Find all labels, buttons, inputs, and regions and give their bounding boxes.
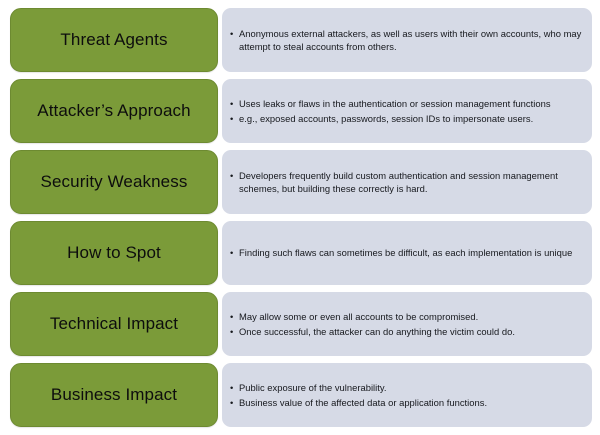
bullet-dot-icon: • — [230, 112, 233, 125]
row-label-box: Security Weakness — [10, 150, 218, 214]
bullet-dot-icon: • — [230, 325, 233, 338]
row-label-box: Business Impact — [10, 363, 218, 427]
row-label-text: Security Weakness — [35, 172, 194, 192]
bullet-dot-icon: • — [230, 310, 233, 323]
bullet-list: •Finding such flaws can sometimes be dif… — [230, 246, 582, 259]
diagram-row: Threat Agents•Anonymous external attacke… — [10, 8, 592, 72]
row-detail-panel: •Public exposure of the vulnerability.•B… — [222, 363, 592, 427]
row-detail-panel: •May allow some or even all accounts to … — [222, 292, 592, 356]
row-label-text: Business Impact — [45, 385, 183, 405]
bullet-dot-icon: • — [230, 27, 233, 40]
bullet-list: •Uses leaks or flaws in the authenticati… — [230, 97, 582, 125]
bullet-item: •Public exposure of the vulnerability. — [230, 381, 582, 394]
row-label-text: Attacker’s Approach — [31, 101, 196, 121]
bullet-item: •Uses leaks or flaws in the authenticati… — [230, 97, 582, 110]
bullet-text: May allow some or even all accounts to b… — [239, 311, 478, 322]
bullet-text: e.g., exposed accounts, passwords, sessi… — [239, 113, 533, 124]
bullet-dot-icon: • — [230, 97, 233, 110]
row-label-box: Attacker’s Approach — [10, 79, 218, 143]
bullet-list: •Anonymous external attackers, as well a… — [230, 27, 582, 54]
bullet-dot-icon: • — [230, 396, 233, 409]
bullet-item: •Once successful, the attacker can do an… — [230, 325, 582, 338]
bullet-item: •Anonymous external attackers, as well a… — [230, 27, 582, 54]
row-label-box: Threat Agents — [10, 8, 218, 72]
diagram-row: Attacker’s Approach•Uses leaks or flaws … — [10, 79, 592, 143]
row-detail-panel: •Uses leaks or flaws in the authenticati… — [222, 79, 592, 143]
bullet-list: •May allow some or even all accounts to … — [230, 310, 582, 338]
row-detail-panel: •Anonymous external attackers, as well a… — [222, 8, 592, 72]
bullet-list: •Developers frequently build custom auth… — [230, 169, 582, 196]
bullet-dot-icon: • — [230, 169, 233, 182]
bullet-text: Uses leaks or flaws in the authenticatio… — [239, 98, 551, 109]
bullet-item: •May allow some or even all accounts to … — [230, 310, 582, 323]
risk-profile-diagram: Threat Agents•Anonymous external attacke… — [0, 0, 600, 435]
bullet-text: Finding such flaws can sometimes be diff… — [239, 247, 572, 258]
bullet-text: Anonymous external attackers, as well as… — [239, 28, 581, 52]
bullet-text: Developers frequently build custom authe… — [239, 170, 558, 194]
row-label-text: How to Spot — [61, 243, 167, 263]
bullet-dot-icon: • — [230, 381, 233, 394]
diagram-row: Security Weakness•Developers frequently … — [10, 150, 592, 214]
row-detail-panel: •Developers frequently build custom auth… — [222, 150, 592, 214]
bullet-text: Public exposure of the vulnerability. — [239, 382, 387, 393]
bullet-text: Once successful, the attacker can do any… — [239, 326, 515, 337]
row-label-box: How to Spot — [10, 221, 218, 285]
row-label-box: Technical Impact — [10, 292, 218, 356]
bullet-item: •Developers frequently build custom auth… — [230, 169, 582, 196]
diagram-row: How to Spot•Finding such flaws can somet… — [10, 221, 592, 285]
bullet-item: •Finding such flaws can sometimes be dif… — [230, 246, 582, 259]
bullet-dot-icon: • — [230, 246, 233, 259]
bullet-list: •Public exposure of the vulnerability.•B… — [230, 381, 582, 409]
bullet-item: •Business value of the affected data or … — [230, 396, 582, 409]
diagram-row: Business Impact•Public exposure of the v… — [10, 363, 592, 427]
bullet-text: Business value of the affected data or a… — [239, 397, 487, 408]
row-label-text: Technical Impact — [44, 314, 184, 334]
row-detail-panel: •Finding such flaws can sometimes be dif… — [222, 221, 592, 285]
diagram-row: Technical Impact•May allow some or even … — [10, 292, 592, 356]
bullet-item: •e.g., exposed accounts, passwords, sess… — [230, 112, 582, 125]
row-label-text: Threat Agents — [54, 30, 173, 50]
